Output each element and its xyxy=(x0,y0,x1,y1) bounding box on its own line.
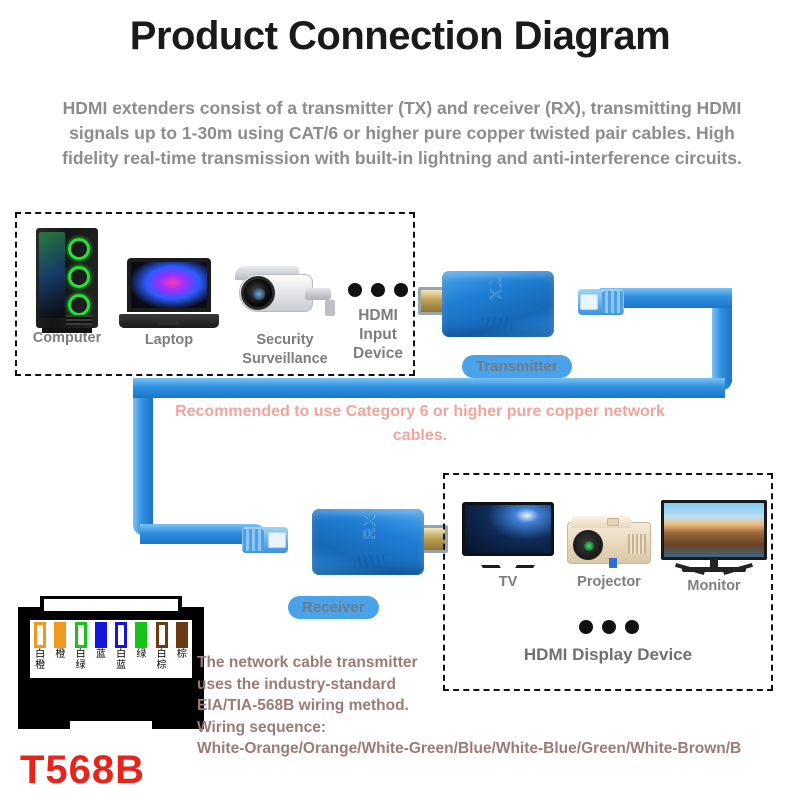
rj45-pin-4: 蓝 xyxy=(91,620,111,678)
rj45-pin-label-2: 橙 xyxy=(54,649,67,660)
wiring-line-1: The network cable transmitter xyxy=(197,652,800,674)
rj45-pin-color-7 xyxy=(156,622,168,648)
rj45-pin-label-8: 棕 xyxy=(175,649,188,660)
rj45-pin-row: 白橙橙白绿蓝白蓝绿白棕棕 xyxy=(30,620,192,678)
rj45-pin-color-2 xyxy=(54,622,66,648)
transmitter-marking: TX xyxy=(486,277,506,301)
display-label-tv: TV xyxy=(462,574,554,591)
rj45-pin-label-7: 白棕 xyxy=(155,649,168,671)
rj45-pin-label-5: 白蓝 xyxy=(115,649,128,671)
rj45-pin-3: 白绿 xyxy=(71,620,91,678)
source-device-computer: Computer xyxy=(27,228,107,347)
ellipsis-dots-icon xyxy=(344,283,412,297)
page-description: HDMI extenders consist of a transmitter … xyxy=(52,96,752,171)
rj45-pin-color-3 xyxy=(75,622,87,648)
rj45-pin-color-1 xyxy=(34,622,46,648)
source-more-label-line1: HDMI xyxy=(344,307,412,324)
rj45-connector-diagram: 白橙橙白绿蓝白蓝绿白棕棕 xyxy=(18,607,204,729)
receiver-label: Receiver xyxy=(288,596,379,619)
display-device-projector: Projector xyxy=(567,512,651,591)
rj45-pin-8: 棕 xyxy=(172,620,192,678)
rj45-pin-color-5 xyxy=(115,622,127,648)
rj45-pin-6: 绿 xyxy=(131,620,151,678)
hdmi-extender-receiver: RX xyxy=(248,505,448,581)
rj45-jack-icon xyxy=(578,289,624,315)
source-device-laptop: Laptop xyxy=(119,258,219,349)
source-more-label-line3: Device xyxy=(344,345,412,362)
rj45-pin-1: 白橙 xyxy=(30,620,50,678)
rj45-pin-color-8 xyxy=(176,622,188,648)
wiring-description: The network cable transmitter uses the i… xyxy=(197,652,800,760)
rj45-pin-2: 橙 xyxy=(50,620,70,678)
rj45-pin-label-1: 白橙 xyxy=(34,649,47,671)
laptop-icon xyxy=(119,258,219,330)
source-label-camera-line1: Security xyxy=(232,332,338,349)
display-label-monitor: Monitor xyxy=(661,578,767,595)
wiring-line-5: White-Orange/Orange/White-Green/Blue/Whi… xyxy=(197,738,800,760)
transmitter-label: Transmitter xyxy=(462,355,572,378)
page-title: Product Connection Diagram xyxy=(0,14,800,59)
wiring-line-3: EIA/TIA-568B wiring method. xyxy=(197,695,800,717)
rj45-pin-color-4 xyxy=(95,622,107,648)
source-more-devices: HDMI Input Device xyxy=(344,283,412,362)
display-ellipsis-dots-icon xyxy=(576,620,642,634)
projector-icon xyxy=(567,512,651,570)
monitor-icon xyxy=(661,500,767,576)
source-label-camera-line2: Surveillance xyxy=(232,351,338,368)
tv-icon xyxy=(462,502,554,568)
rj45-pin-color-6 xyxy=(135,622,147,648)
rj45-pin-7: 白棕 xyxy=(152,620,172,678)
wiring-line-4: Wiring sequence: xyxy=(197,717,800,739)
source-label-laptop: Laptop xyxy=(119,332,219,349)
source-more-label-line2: Input xyxy=(344,326,412,343)
rj45-pin-label-3: 白绿 xyxy=(74,649,87,671)
diagram-canvas: Product Connection Diagram HDMI extender… xyxy=(0,0,800,800)
display-device-tv: TV xyxy=(462,502,554,591)
wiring-line-2: uses the industry-standard xyxy=(197,674,800,696)
source-device-camera: Security Surveillance xyxy=(232,258,338,368)
display-device-monitor: Monitor xyxy=(661,500,767,595)
cable-recommendation-note: Recommended to use Category 6 or higher … xyxy=(160,400,680,448)
desktop-tower-icon xyxy=(36,228,98,328)
security-camera-icon xyxy=(233,258,337,330)
rj45-jack-icon xyxy=(242,527,288,553)
display-label-projector: Projector xyxy=(567,574,651,591)
receiver-marking: RX xyxy=(359,514,379,540)
rj45-pin-5: 白蓝 xyxy=(111,620,131,678)
hdmi-extender-transmitter: TX xyxy=(418,267,618,343)
rj45-pin-label-6: 绿 xyxy=(135,649,148,660)
t568b-standard-label: T568B xyxy=(20,748,145,793)
rj45-pin-label-4: 蓝 xyxy=(94,649,107,660)
